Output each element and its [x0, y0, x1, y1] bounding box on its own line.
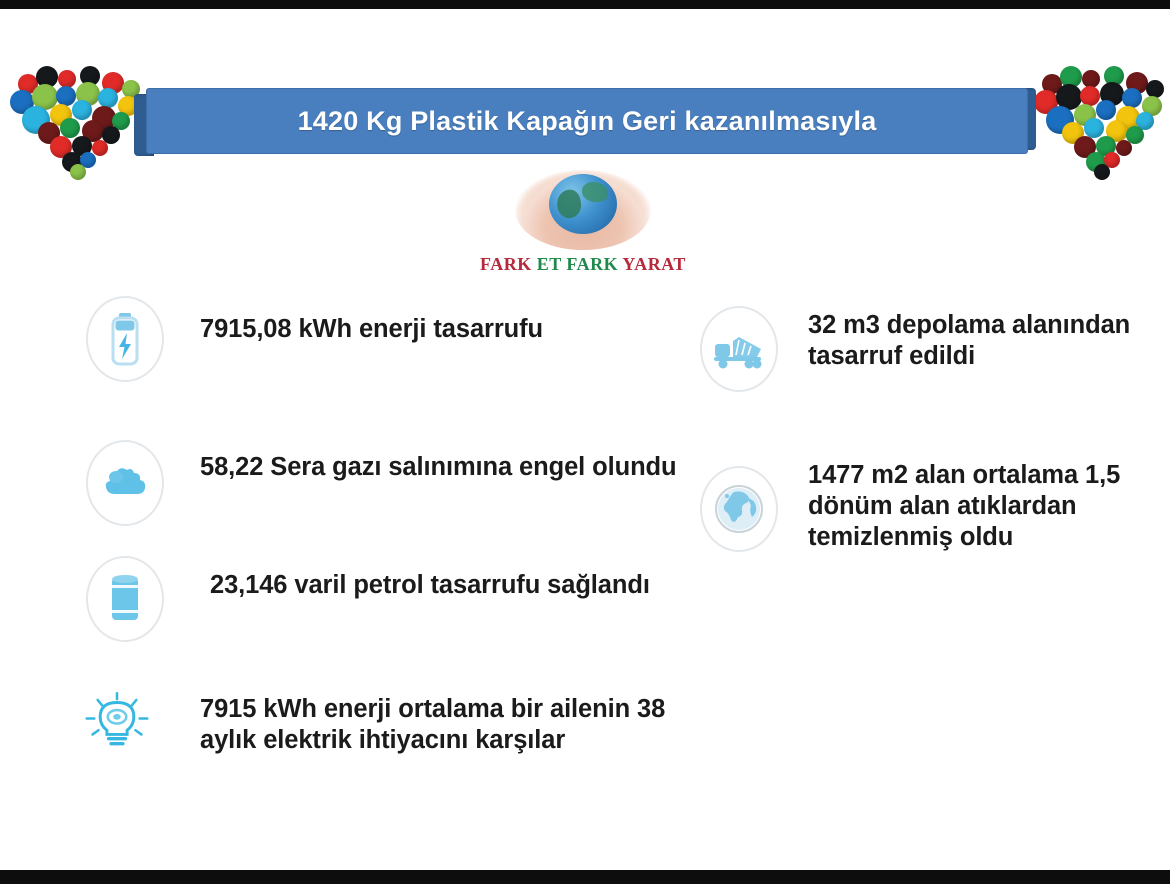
bottle-cap [70, 164, 86, 180]
stat-label-energy: 7915,08 kWh enerji tasarrufu [200, 314, 543, 345]
logo-word-4: YARAT [622, 254, 686, 274]
stat-label-household-electricity: 7915 kWh enerji ortalama bir ailenin 38 … [200, 694, 688, 756]
hands-holding-earth-icon [507, 168, 659, 252]
logo-word-3: FARK [566, 254, 618, 274]
earth-icon [549, 174, 617, 234]
logo: FARK ET FARK YARAT [478, 168, 688, 278]
stat-item-greenhouse-gas: 58,22 Sera gazı salınımına engel olundu [86, 440, 696, 526]
bottle-cap [1084, 118, 1104, 138]
stat-item-energy: 7915,08 kWh enerji tasarrufu [86, 296, 686, 382]
bottle-cap [92, 140, 108, 156]
page-title: 1420 Kg Plastik Kapağın Geri kazanılması… [298, 106, 877, 137]
logo-wordmark: FARK ET FARK YARAT [478, 254, 688, 275]
title-ribbon: 1420 Kg Plastik Kapağın Geri kazanılması… [134, 88, 1036, 160]
stat-item-storage: 32 m3 depolama alanından tasarruf edildi [700, 306, 1160, 392]
stat-label-oil-barrel: 23,146 varil petrol tasarrufu sağlandı [210, 570, 650, 601]
smoke-cloud-icon [86, 440, 164, 526]
bottle-cap [98, 88, 118, 108]
globe-icon [700, 466, 778, 552]
stat-label-storage: 32 m3 depolama alanından tasarruf edildi [808, 310, 1160, 372]
bottle-cap [1122, 88, 1142, 108]
bottle-cap [1096, 100, 1116, 120]
bottle-cap [1116, 140, 1132, 156]
glowing-lightbulb-icon [78, 678, 156, 764]
stat-label-greenhouse-gas: 58,22 Sera gazı salınımına engel olundu [200, 452, 677, 483]
bottle-cap [72, 100, 92, 120]
battery-charging-icon [86, 296, 164, 382]
bottle-cap-heart-right [1030, 60, 1170, 178]
bottle-cap [60, 118, 80, 138]
bottom-frame-bar [0, 870, 1170, 884]
bottle-cap [1094, 164, 1110, 180]
stat-item-household-electricity: 7915 kWh enerji ortalama bir ailenin 38 … [78, 678, 688, 764]
stat-item-oil-barrel: 23,146 varil petrol tasarrufu sağlandı [86, 556, 686, 642]
oil-barrel-icon [86, 556, 164, 642]
top-frame-bar [0, 0, 1170, 9]
stat-item-cleaned-area: 1477 m2 alan ortalama 1,5 dönüm alan atı… [700, 466, 1160, 553]
logo-word-2: ET [537, 254, 562, 274]
bottle-cap-heart-left [6, 60, 146, 178]
slide-canvas: 1420 Kg Plastik Kapağın Geri kazanılması… [0, 0, 1170, 884]
dump-truck-icon [700, 306, 778, 392]
ribbon-body: 1420 Kg Plastik Kapağın Geri kazanılması… [146, 88, 1028, 154]
logo-word-1: FARK [480, 254, 532, 274]
stat-label-cleaned-area: 1477 m2 alan ortalama 1,5 dönüm alan atı… [808, 460, 1160, 553]
